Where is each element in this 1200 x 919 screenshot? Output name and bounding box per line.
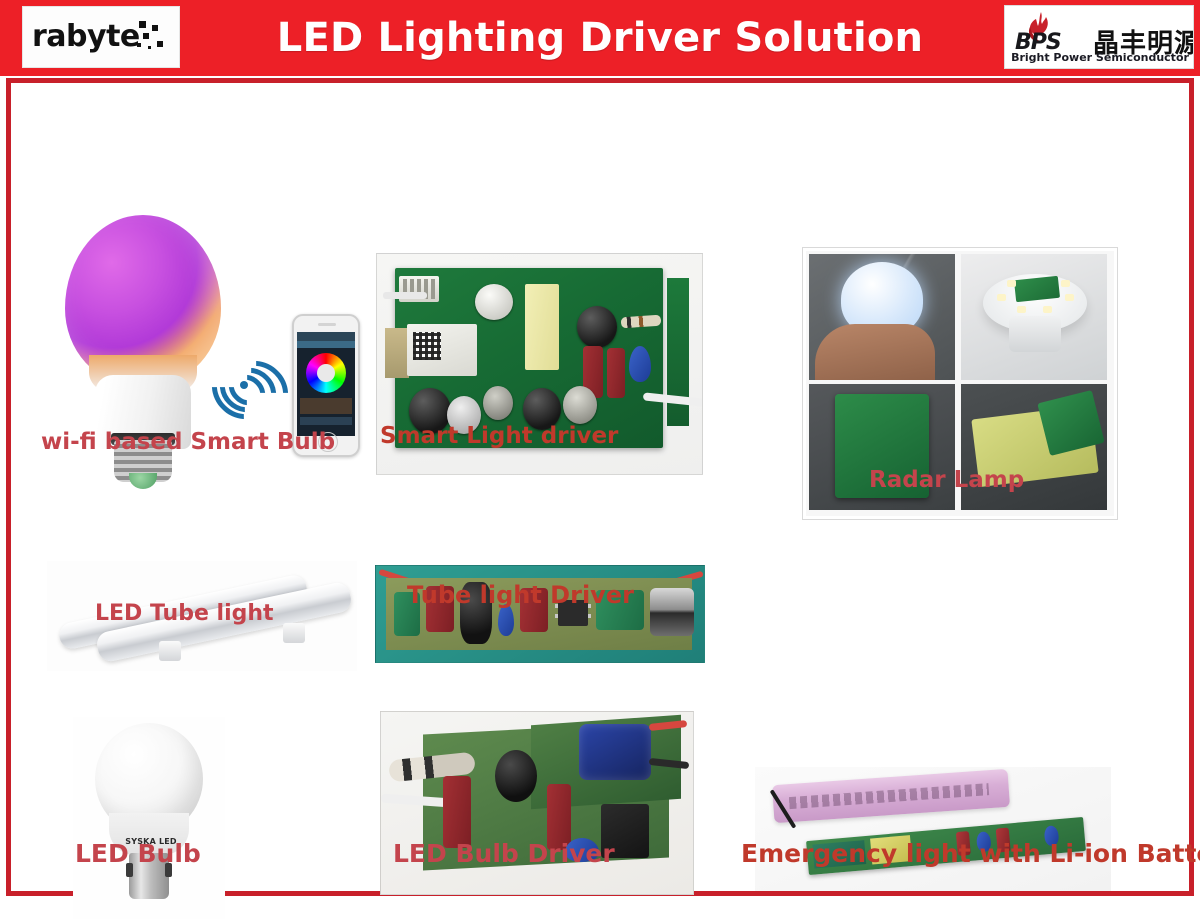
led-bulb-image: SYSKA LED bbox=[73, 717, 225, 919]
bps-logo: BPS 晶丰明源 Bright Power Semiconductor bbox=[1004, 5, 1194, 69]
content-frame: wi-fi based Smart Bulb bbox=[6, 78, 1194, 896]
bps-tagline: Bright Power Semiconductor bbox=[1005, 51, 1194, 64]
caption-led-tube-light: LED Tube light bbox=[95, 601, 274, 626]
header-bar: rabyte LED Lighting Driver Solution BPS … bbox=[0, 0, 1200, 76]
caption-tube-light-driver: Tube light Driver bbox=[407, 581, 634, 609]
caption-led-bulb-driver: LED Bulb Driver bbox=[393, 839, 615, 868]
emergency-light-image bbox=[755, 767, 1111, 891]
caption-wifi-smart-bulb: wi-fi based Smart Bulb bbox=[41, 429, 335, 455]
caption-led-bulb: LED Bulb bbox=[75, 839, 201, 868]
caption-smart-light-driver: Smart Light driver bbox=[380, 423, 618, 449]
caption-radar-lamp: Radar Lamp bbox=[869, 467, 1024, 493]
caption-emergency-light: Emergency light with Li-ion Battery bbox=[741, 839, 1200, 868]
radar-photo-led-disc bbox=[961, 254, 1107, 380]
tube-light-driver-image bbox=[375, 565, 705, 663]
slide: rabyte LED Lighting Driver Solution BPS … bbox=[0, 0, 1200, 902]
radar-photo-bulb-in-hand bbox=[809, 254, 955, 380]
wifi-signal-icon bbox=[211, 361, 273, 411]
